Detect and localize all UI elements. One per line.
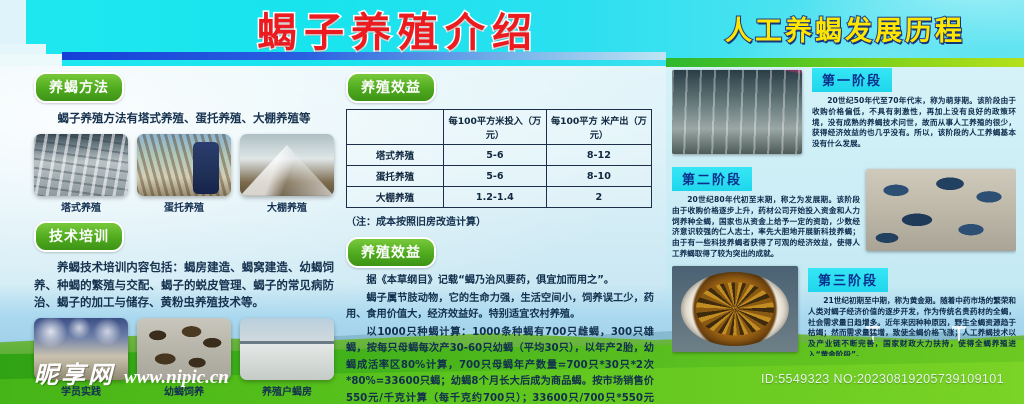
stage-block-2: 第二阶段 20世纪80年代初至末期，称之为发展期。该阶段由于收购价格逐步上升，药… — [672, 167, 1016, 257]
page-title: 蝎子养殖介绍 — [148, 8, 648, 58]
watermark-id-text: ID:5549323 NO:20230819205739109101 — [761, 372, 1004, 386]
table-row: 塔式养殖 5-6 8-12 — [347, 145, 652, 166]
section-benefit-table: 养殖效益 每100平方米投入（万元） 每100平方 米产出（万元） 塔式养殖 5… — [346, 72, 654, 228]
photo-cell: 塔式养殖 — [34, 134, 128, 214]
table-cell: 蛋托养殖 — [347, 166, 444, 187]
table-cell: 1.2-1.4 — [444, 187, 547, 208]
benefit-paragraph: 以1000只种蝎计算：1000条种蝎有700只雌蝎，300只雄蝎，按每只母蝎每次… — [346, 325, 654, 404]
middle-column: 养殖效益 每100平方米投入（万元） 每100平方 米产出（万元） 塔式养殖 5… — [346, 72, 654, 404]
stage1-text-wrap: 20世纪50年代至70年代末，称为萌芽期。该阶段由于收购价格偏低，不具有刺激性，… — [812, 96, 1016, 150]
table-cell: 大棚养殖 — [347, 187, 444, 208]
table-cell: 8-12 — [546, 145, 651, 166]
table-row: 大棚养殖 1.2-1.4 2 — [347, 187, 652, 208]
table-header-cell — [347, 110, 444, 145]
breeding-methods-lead: 蝎子养殖方法有塔式养殖、蛋托养殖、大棚养殖等 — [34, 110, 334, 128]
table-row: 蛋托养殖 5-6 8-10 — [347, 166, 652, 187]
stage2-content: 第二阶段 20世纪80年代初至末期，称之为发展期。该阶段由于收购价格逐步上升，药… — [672, 167, 860, 257]
footer-branding: 昵享网 www.nipic.cn — [34, 355, 229, 390]
badge-breeding-methods: 养蝎方法 — [34, 72, 124, 103]
photo-caption: 蛋托养殖 — [137, 199, 231, 214]
green-divider-rule — [666, 58, 1024, 67]
badge-breeding-benefit-text: 养殖效益 — [346, 237, 436, 268]
tag-stage-3: 第三阶段 — [808, 268, 888, 292]
stage1-text: 20世纪50年代至70年代末，称为萌芽期。该阶段由于收购价格偏低，不具有刺激性，… — [812, 96, 1016, 150]
benefit-body-text: 据《本草纲目》记载“蝎乃治风要药，俱宜加而用之”。 蝎子属节肢动物，它的生命力强… — [346, 273, 654, 404]
table-header-cell: 每100平方 米产出（万元） — [546, 110, 651, 145]
photo-stage2-scorpions — [866, 169, 1016, 251]
stage3-content: 第三阶段 21世纪初期至中期，称为黄金期。随着中药市场的繁荣和人类对蝎子经济价值… — [808, 268, 1016, 356]
banner-notch-3 — [0, 54, 62, 66]
benefit-paragraph: 据《本草纲目》记载“蝎乃治风要药，俱宜加而用之”。 — [346, 273, 654, 290]
stage3-text-wrap: 21世纪初期至中期，称为黄金期。随着中药市场的繁荣和人类对蝎子经济价值的逐步开发… — [808, 296, 1016, 356]
brand-name-cn: 昵享网 — [34, 355, 115, 390]
stage2-text-wrap: 20世纪80年代初至末期，称之为发展期。该阶段由于收购价格逐步上升，药材公司开始… — [672, 195, 860, 257]
poster-canvas: 蝎子养殖介绍 人工养蝎发展历程 养蝎方法 蝎子养殖方法有塔式养殖、蛋托养殖、大棚… — [0, 0, 1024, 404]
technical-training-lead: 养蝎技术培训内容包括：蝎房建造、蝎窝建造、幼蝎饲养、种蝎的繁殖与交配、蝎子的蜕皮… — [34, 259, 334, 312]
table-cell: 2 — [546, 187, 651, 208]
stage1-content: 第一阶段 20世纪50年代至70年代末，称为萌芽期。该阶段由于收购价格偏低，不具… — [812, 68, 1016, 150]
photo-cell: 大棚养殖 — [240, 134, 334, 214]
photo-tower-breeding — [34, 134, 128, 196]
table-cell: 5-6 — [444, 145, 547, 166]
right-panel-title: 人工养蝎发展历程 — [690, 10, 1000, 54]
right-column: 第一阶段 20世纪50年代至70年代末，称为萌芽期。该阶段由于收购价格偏低，不具… — [672, 68, 1016, 363]
badge-technical-training: 技术培训 — [34, 221, 124, 252]
breeding-methods-photos: 塔式养殖 蛋托养殖 大棚养殖 — [34, 134, 334, 214]
table-cell: 8-10 — [546, 166, 651, 187]
stage2-text: 20世纪80年代初至末期，称之为发展期。该阶段由于收购价格逐步上升，药材公司开始… — [672, 195, 860, 257]
photo-cell: 养殖户蝎房 — [240, 318, 334, 398]
section-benefit-text: 养殖效益 据《本草纲目》记载“蝎乃治风要药，俱宜加而用之”。 蝎子属节肢动物，它… — [346, 237, 654, 404]
table-header-row: 每100平方米投入（万元） 每100平方 米产出（万元） — [347, 110, 652, 145]
photo-stage1-cellar — [672, 70, 802, 154]
benefit-table: 每100平方米投入（万元） 每100平方 米产出（万元） 塔式养殖 5-6 8-… — [346, 109, 652, 208]
brand-website-url: www.nipic.cn — [124, 367, 229, 389]
tag-stage-1: 第一阶段 — [812, 68, 892, 92]
table-cell: 5-6 — [444, 166, 547, 187]
photo-greenhouse-breeding — [240, 134, 334, 196]
photo-caption: 养殖户蝎房 — [240, 383, 334, 398]
benefit-paragraph: 蝎子属节肢动物，它的生命力强，生活空间小，饲养误工少，药用、食用价值大，经济效益… — [346, 291, 654, 324]
stage-block-1: 第一阶段 20世纪50年代至70年代末，称为萌芽期。该阶段由于收购价格偏低，不具… — [672, 68, 1016, 160]
stage-block-3: 第三阶段 21世纪初期至中期，称为黄金期。随着中药市场的繁荣和人类对蝎子经济价值… — [672, 264, 1016, 356]
badge-breeding-benefit-table: 养殖效益 — [346, 72, 436, 103]
table-note: （注：成本按照旧房改造计算） — [346, 213, 654, 228]
left-column: 养蝎方法 蝎子养殖方法有塔式养殖、蛋托养殖、大棚养殖等 塔式养殖 蛋托养殖 大棚… — [34, 72, 334, 398]
banner-notch-1 — [0, 0, 26, 44]
table-cell: 塔式养殖 — [347, 145, 444, 166]
photo-stage3-dish — [672, 266, 798, 352]
table-header-cell: 每100平方米投入（万元） — [444, 110, 547, 145]
photo-caption: 塔式养殖 — [34, 199, 128, 214]
photo-caption: 大棚养殖 — [240, 199, 334, 214]
stage3-text: 21世纪初期至中期，称为黄金期。随着中药市场的繁荣和人类对蝎子经济价值的逐步开发… — [808, 296, 1016, 356]
photo-farmer-scorpion-house — [240, 318, 334, 380]
banner-notch-2 — [0, 44, 46, 54]
section-breeding-methods: 养蝎方法 蝎子养殖方法有塔式养殖、蛋托养殖、大棚养殖等 塔式养殖 蛋托养殖 大棚… — [34, 72, 334, 214]
tag-stage-2: 第二阶段 — [672, 167, 752, 191]
photo-cell: 蛋托养殖 — [137, 134, 231, 214]
photo-eggtray-breeding — [137, 134, 231, 196]
